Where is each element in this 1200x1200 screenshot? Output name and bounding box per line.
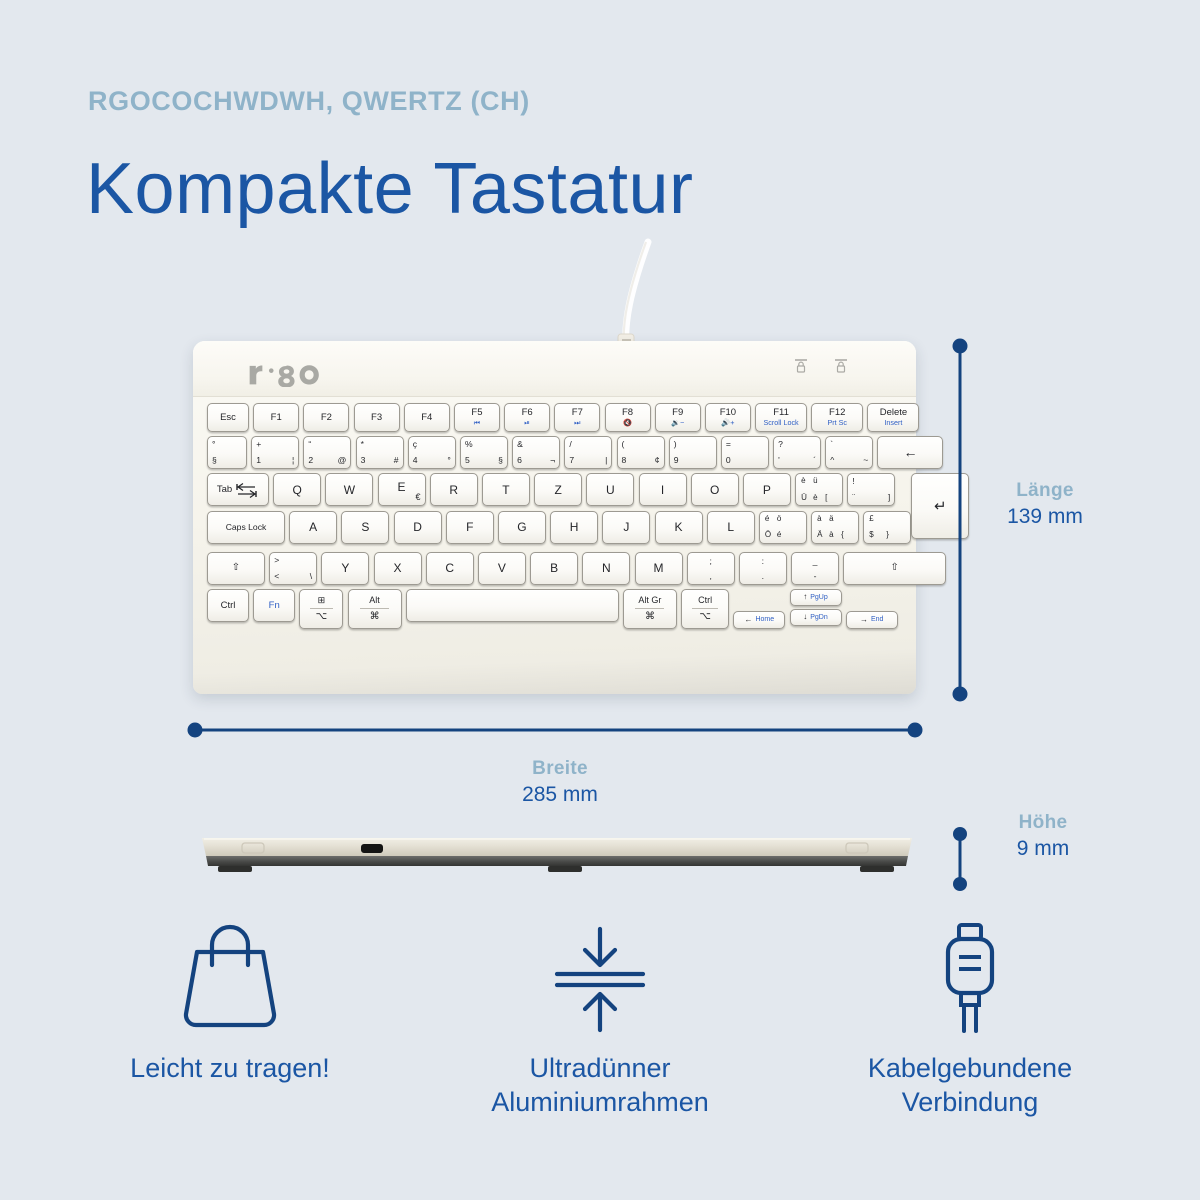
key-ctrl-left[interactable]: Ctrl	[207, 589, 249, 622]
key-row-top-letters: Tab Q	[207, 473, 911, 506]
feature-portable-label: Leicht zu tragen!	[60, 1052, 400, 1086]
key-comma[interactable]: ; ,	[687, 552, 735, 585]
key-7[interactable]: / 7 |	[564, 436, 612, 469]
key-l[interactable]: L	[707, 511, 755, 544]
key-udiaeresis[interactable]: è ü Ü è [	[795, 473, 843, 506]
key-v[interactable]: V	[478, 552, 526, 585]
key-tab[interactable]: Tab	[207, 473, 269, 506]
key-9[interactable]: ) 9	[669, 436, 717, 469]
key-delete[interactable]: Delete Insert	[867, 403, 919, 432]
dimension-line-length	[945, 336, 975, 704]
key-row-function: Esc F1 F2 F3 F4 F5 ⏮ F6 ⏯ F7 ⏭	[207, 403, 904, 432]
key-arrow-left[interactable]: ← Home	[733, 611, 785, 629]
key-i[interactable]: I	[639, 473, 687, 506]
key-f5-media-prev-icon: ⏮	[471, 419, 482, 427]
key-windows[interactable]: ⊞ ⌥	[299, 589, 343, 629]
key-matrix: Esc F1 F2 F3 F4 F5 ⏮ F6 ⏯ F7 ⏭	[207, 403, 904, 633]
dimension-label-length: Länge 139 mm	[975, 480, 1115, 529]
key-f7[interactable]: F7 ⏭	[554, 403, 600, 432]
keyboard-side-view	[196, 832, 918, 882]
key-backspace[interactable]: ←	[877, 436, 943, 469]
key-esc[interactable]: Esc	[207, 403, 249, 432]
key-circumflex[interactable]: ` ^ ~	[825, 436, 873, 469]
key-4[interactable]: ç 4 °	[408, 436, 456, 469]
command-icon: ⌘	[370, 612, 380, 623]
key-2[interactable]: “ 2 @	[303, 436, 351, 469]
key-f4[interactable]: F4	[404, 403, 450, 432]
key-m[interactable]: M	[635, 552, 683, 585]
key-row-home-letters: Caps Lock A S D F G H	[207, 511, 911, 544]
key-f10[interactable]: F10 🔊+	[705, 403, 751, 432]
key-u[interactable]: U	[586, 473, 634, 506]
key-adiaeresis[interactable]: à ä Ä à {	[811, 511, 859, 544]
key-w[interactable]: W	[325, 473, 373, 506]
infographic-page: RGOCOCHWDWH, QWERTZ (CH) Kompakte Tastat…	[0, 0, 1200, 1200]
key-section[interactable]: ° §	[207, 436, 247, 469]
option-icon: ⌥	[316, 612, 328, 623]
key-row-modifiers: Ctrl Fn ⊞ ⌥ Alt ⌘	[207, 589, 904, 629]
key-caps-lock[interactable]: Caps Lock	[207, 511, 285, 544]
key-f5[interactable]: F5 ⏮	[454, 403, 500, 432]
key-f9[interactable]: F9 🔉−	[655, 403, 701, 432]
key-alt-left[interactable]: Alt ⌘	[348, 589, 402, 629]
key-0[interactable]: = 0	[721, 436, 769, 469]
dimension-line-height	[945, 826, 975, 892]
key-z[interactable]: Z	[534, 473, 582, 506]
key-e[interactable]: E €	[378, 473, 426, 506]
key-8[interactable]: ( 8 ¢	[617, 436, 665, 469]
key-alt-gr[interactable]: Alt Gr ⌘	[623, 589, 677, 629]
key-1[interactable]: + 1 ¦	[251, 436, 299, 469]
product-model-eyebrow: RGOCOCHWDWH, QWERTZ (CH)	[88, 86, 530, 117]
key-arrow-right[interactable]: → End	[846, 611, 898, 629]
key-f2[interactable]: F2	[303, 403, 349, 432]
keyboard-bezel	[193, 341, 916, 397]
key-b[interactable]: B	[530, 552, 578, 585]
key-s[interactable]: S	[341, 511, 389, 544]
key-arrow-down[interactable]: ↓ PgDn	[790, 609, 842, 626]
feature-ultrathin-label: Ultradünner Aluminiumrahmen	[430, 1052, 770, 1120]
key-g[interactable]: G	[498, 511, 546, 544]
feature-list: Leicht zu tragen! Ultradünner Aluminiumr…	[60, 918, 1140, 1120]
key-minus[interactable]: _ -	[791, 552, 839, 585]
feature-portable: Leicht zu tragen!	[60, 918, 400, 1120]
key-fn[interactable]: Fn	[253, 589, 295, 622]
dimension-label-width: Breite 285 mm	[470, 758, 650, 807]
key-d[interactable]: D	[394, 511, 442, 544]
key-f11[interactable]: F11 Scroll Lock	[755, 403, 807, 432]
key-f8-mute-icon: 🔇	[622, 419, 633, 427]
key-t[interactable]: T	[482, 473, 530, 506]
dimension-label-height: Höhe 9 mm	[978, 812, 1108, 861]
key-h[interactable]: H	[550, 511, 598, 544]
key-shift-left[interactable]: ⇧	[207, 552, 265, 585]
usb-cable-graphic	[520, 236, 680, 351]
feature-wired-label: Kabelgebundene Verbindung	[800, 1052, 1140, 1120]
status-indicators	[794, 357, 848, 375]
key-odiaeresis[interactable]: é ö Ö é	[759, 511, 807, 544]
thin-arrows-icon	[540, 919, 660, 1037]
key-r[interactable]: R	[430, 473, 478, 506]
key-f9-volume-down-icon: 🔉−	[671, 419, 684, 427]
key-shift-right[interactable]: ⇧	[843, 552, 946, 585]
key-f[interactable]: F	[446, 511, 494, 544]
key-n[interactable]: N	[582, 552, 630, 585]
windows-icon: ⊞	[318, 596, 326, 605]
key-period[interactable]: : .	[739, 552, 787, 585]
key-dollar[interactable]: £ $ }	[863, 511, 911, 544]
key-arrow-up[interactable]: ↑ PgUp	[790, 589, 842, 606]
feature-wired: Kabelgebundene Verbindung	[800, 918, 1140, 1120]
key-k[interactable]: K	[655, 511, 703, 544]
key-f6-media-play-icon: ⏯	[522, 419, 533, 427]
key-6[interactable]: & 6 ¬	[512, 436, 560, 469]
caps-lock-led-icon	[794, 357, 808, 375]
page-title: Kompakte Tastatur	[86, 148, 694, 230]
key-x[interactable]: X	[374, 552, 422, 585]
key-row-numbers: ° § + 1 ¦ “ 2 @ * 3 # ç 4 °	[207, 436, 904, 469]
keyboard-top-view: Esc F1 F2 F3 F4 F5 ⏮ F6 ⏯ F7 ⏭	[193, 341, 916, 694]
key-f7-media-next-icon: ⏭	[572, 419, 583, 427]
tab-arrows-icon	[235, 482, 259, 498]
key-less-greater[interactable]: > < \	[269, 552, 317, 585]
key-f3[interactable]: F3	[354, 403, 400, 432]
key-f6[interactable]: F6 ⏯	[504, 403, 550, 432]
command-icon: ⌘	[645, 612, 655, 623]
r-go-logo	[247, 357, 328, 387]
key-f8[interactable]: F8 🔇	[605, 403, 651, 432]
key-5[interactable]: % 5 §	[460, 436, 508, 469]
num-lock-led-icon	[834, 357, 848, 375]
key-j[interactable]: J	[602, 511, 650, 544]
key-3[interactable]: * 3 #	[356, 436, 404, 469]
key-f12[interactable]: F12 Prt Sc	[811, 403, 863, 432]
key-space[interactable]	[406, 589, 619, 622]
key-a[interactable]: A	[289, 511, 337, 544]
key-y[interactable]: Y	[321, 552, 369, 585]
usb-plug-icon	[910, 919, 1030, 1037]
key-o[interactable]: O	[691, 473, 739, 506]
key-q[interactable]: Q	[273, 473, 321, 506]
key-ctrl-right[interactable]: Ctrl ⌥	[681, 589, 729, 629]
key-diaeresis[interactable]: ! ¨ ]	[847, 473, 895, 506]
feature-ultrathin: Ultradünner Aluminiumrahmen	[430, 918, 770, 1120]
key-c[interactable]: C	[426, 552, 474, 585]
key-apostrophe[interactable]: ? ' ´	[773, 436, 821, 469]
option-icon: ⌥	[699, 612, 711, 623]
key-f10-volume-up-icon: 🔊+	[720, 419, 736, 427]
dimension-line-width	[185, 715, 925, 745]
key-p[interactable]: P	[743, 473, 791, 506]
bag-icon	[170, 919, 290, 1037]
key-row-bottom-letters: ⇧ > < \ Y X C V B N M	[207, 552, 904, 585]
key-f1[interactable]: F1	[253, 403, 299, 432]
